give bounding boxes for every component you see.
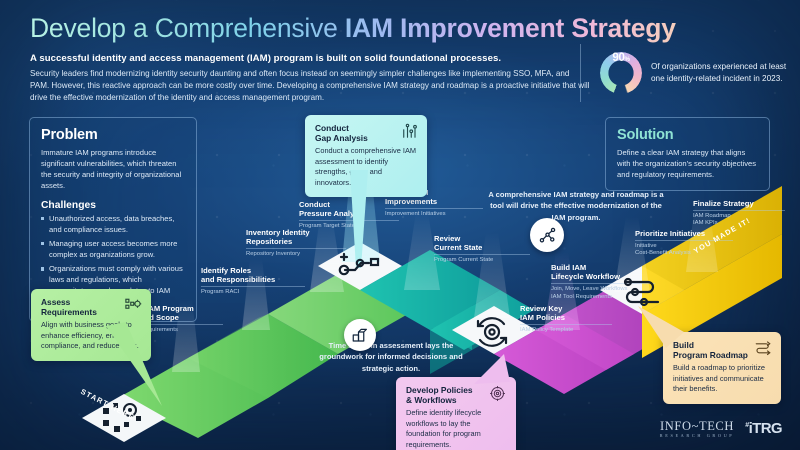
step-title: Review Current State [434,234,530,253]
list-item: Managing user access becomes more comple… [41,239,185,261]
info-tech-tagline: RESEARCH GROUP [660,434,734,438]
bubble-body: Define identity lifecycle workflows to l… [406,408,506,450]
challenges-heading: Challenges [41,200,185,211]
policy-flow-icon [618,272,668,310]
title-light: Develop a Comprehensive [30,13,345,43]
center-note-assessment: Time spent in assessment lays the ground… [316,340,466,374]
itrg-logo: #iTRG [745,420,782,437]
step-label-8: Review Key IAM Policies IAM Policy Templ… [520,304,612,335]
step-title: Review Key IAM Policies [520,304,612,323]
title-bold: IAM Improvement Strategy [345,13,676,43]
step-label-3: Inventory Identity Repositories Reposito… [246,228,346,259]
step-sub: Program Current State [434,254,530,265]
lifecycle-gear-icon [470,312,514,352]
solution-heading: Solution [617,127,758,143]
itrg-wordmark: iTRG [749,420,782,437]
center-note-strategy: A comprehensive IAM strategy and roadmap… [487,189,665,223]
workflow-nodes-icon [336,248,386,284]
donut-unit: % [625,57,630,63]
logo-group: INFO~TECH RESEARCH GROUP #iTRG [660,420,782,438]
step-label-6: Review Current State Program Current Sta… [434,234,530,265]
target-gear-icon [489,385,507,403]
blocks-stack-icon [344,319,376,351]
solution-body: Define a clear IAM strategy that aligns … [617,147,758,180]
step-sub: Program RACI [201,286,305,297]
roadmap-flow-icon [754,340,772,358]
bubble-tail-roadmap [636,304,688,354]
stat-block: 90% Of organizations experienced at leas… [600,52,791,94]
problem-body: Immature IAM programs introduce signific… [41,147,185,191]
stat-description: Of organizations experienced at least on… [651,61,791,85]
step-sub: Repository Inventory [246,248,346,259]
step-label-2: Identify Roles and Responsibilities Prog… [201,266,305,297]
bubble-tail-policies [452,352,512,386]
step-title: Finalize Strategy [693,199,785,208]
header-divider [580,44,581,102]
donut-value: 90 [612,52,624,64]
solution-panel: Solution Define a clear IAM strategy tha… [605,117,770,191]
info-tech-wordmark: INFO~TECH [660,420,734,433]
header-body-copy: Security leaders find modernizing identi… [30,68,590,105]
list-item: Unauthorized access, data breaches, and … [41,214,185,236]
donut-label: 90% [600,52,642,94]
page-title: Develop a Comprehensive IAM Improvement … [30,14,770,43]
bubble-develop-policies: Develop Policies & Workflows Define iden… [396,377,516,450]
step-title: Identify Roles and Responsibilities [201,266,305,285]
settings-nodes-icon [124,297,142,315]
bubble-body: Build a roadmap to prioritize initiative… [673,363,771,395]
stat-donut-chart: 90% [600,52,642,94]
step-sub: IAM Policy Template [520,324,612,335]
network-nodes-icon [530,218,564,252]
analysis-chart-icon [400,123,418,141]
info-tech-logo: INFO~TECH RESEARCH GROUP [660,420,734,438]
step-title: Inventory Identity Repositories [246,228,346,247]
problem-heading: Problem [41,127,185,143]
step-sub: Improvement Initiatives [385,208,483,219]
